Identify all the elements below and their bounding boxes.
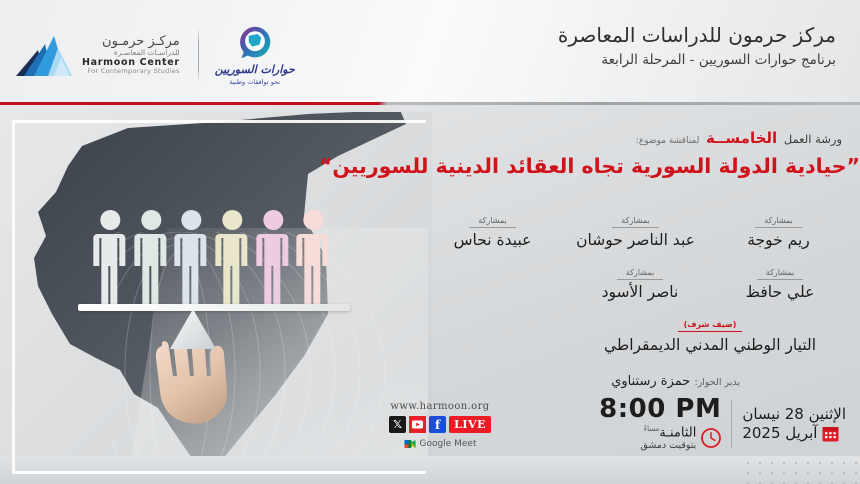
supporting-hand [148, 340, 240, 438]
triangle-fulcrum [168, 308, 218, 350]
person-figure [214, 208, 251, 308]
speaker-name: ناصر الأسود [576, 283, 704, 301]
person-figure [92, 208, 129, 308]
date-line-2: آبريل 2025 [742, 424, 817, 443]
clock-icon [701, 428, 721, 448]
workshop-headline: ”حيادية الدولة السورية تجاه العقائد الدي… [380, 154, 860, 178]
footer-bar [0, 456, 860, 484]
person-figure [295, 208, 332, 308]
time-detail-row: الثامنـةمساءً بتوقيت دمشق [599, 425, 721, 452]
harmoon-logo-text: مركـز حرمـون للدراسـات المعاصـرة Harmoon… [82, 35, 180, 74]
time-value: 8:00 PM [599, 396, 721, 422]
datetime-block: الإثنين 28 نيسان آبريل 2025 [599, 396, 846, 452]
moderator-name: حمزة رستناوي [611, 374, 690, 389]
hiwarat-subtitle: نحو توافقات وطنية [229, 78, 280, 86]
poster-header: مركـز حرمـون للدراسـات المعاصـرة Harmoon… [0, 0, 860, 104]
harmoon-ar-line1: مركـز حرمـون [82, 35, 180, 49]
time-box: 8:00 PM الثامنـةمساءً بتوقيت دمشق [599, 396, 721, 452]
datetime-separator [731, 400, 732, 448]
header-titles: مركز حرمون للدراسات المعاصرة برنامج حوار… [366, 22, 836, 68]
time-words-block: الثامنـةمساءً بتوقيت دمشق [640, 425, 696, 452]
speaker-name: عبيدة نحاس [427, 231, 558, 249]
harmoon-logo: مركـز حرمـون للدراسـات المعاصـرة Harmoon… [14, 32, 180, 78]
harmoon-ar-line2: للدراسـات المعاصـرة [82, 49, 180, 57]
date-line-1: الإثنين 28 نيسان [742, 405, 846, 424]
date-box: الإثنين 28 نيسان آبريل 2025 [742, 405, 846, 443]
social-badges: 𝕏 f LIVE [340, 416, 540, 433]
program-subtitle: برنامج حوارات السوريين - المرحلة الرابعة [366, 52, 836, 68]
moderator-label: يدير الحوار: [694, 377, 740, 388]
poster-root: مركـز حرمـون للدراسـات المعاصـرة Harmoon… [0, 0, 860, 484]
facebook-icon[interactable]: f [429, 416, 446, 433]
speaker-card: بمشاركة عبد الناصر حوشان [564, 208, 707, 249]
speaker-role: بمشاركة [755, 216, 801, 228]
hiwarat-title: حوارات السوريين [215, 63, 295, 76]
dot-pattern [742, 458, 860, 484]
youtube-icon[interactable] [409, 416, 426, 433]
calendar-icon [822, 425, 839, 442]
youtube-glyph [409, 416, 426, 433]
kicker-pre: ورشة العمل [784, 132, 842, 146]
timezone-label: بتوقيت دمشق [640, 441, 696, 452]
time-words-line: الثامنـةمساءً [640, 425, 696, 441]
speaker-card: بمشاركة عبيدة نحاس [421, 208, 564, 249]
kicker-post: لمناقشة موضوع: [636, 136, 700, 146]
website-url[interactable]: www.harmoon.org [340, 401, 540, 412]
date-line-2-row: آبريل 2025 [742, 424, 846, 443]
speaker-name: عبد الناصر حوشان [570, 231, 701, 249]
speech-bubble-syria-icon [237, 25, 273, 61]
speaker-role: بمشاركة [617, 268, 663, 280]
guest-name: التيار الوطني المدني الديمقراطي [570, 336, 850, 354]
person-figure [173, 208, 210, 308]
guest-role-label: (ضيف شرف) [678, 320, 743, 332]
google-meet-row[interactable]: Google Meet [340, 438, 540, 450]
speaker-card: بمشاركة ناصر الأسود [570, 260, 710, 301]
speakers-row-1: بمشاركة ريم خوجة بمشاركة عبد الناصر حوشا… [420, 208, 850, 249]
social-block: www.harmoon.org 𝕏 f LIVE Google Meet [340, 401, 540, 450]
google-meet-icon [404, 438, 416, 450]
time-words-main: الثامنـة [659, 425, 696, 440]
moderator-line: يدير الحوار: حمزة رستناوي [611, 374, 740, 389]
live-badge: LIVE [449, 416, 491, 433]
speaker-name: علي حافظ [716, 283, 844, 301]
people-figures-group [92, 208, 332, 308]
speakers-row-2: بمشاركة علي حافظ بمشاركة ناصر الأسود [570, 260, 850, 301]
header-rule [0, 102, 860, 105]
time-words-sup: مساءً [644, 425, 659, 433]
hiwarat-logo: حوارات السوريين نحو توافقات وطنية [215, 25, 295, 86]
kicker-ordinal: الخامســة [706, 129, 777, 147]
speaker-name: ريم خوجة [713, 231, 844, 249]
speaker-role: بمشاركة [469, 216, 515, 228]
guest-of-honor: (ضيف شرف) التيار الوطني المدني الديمقراط… [570, 312, 850, 354]
harmoon-en-line2: For Contemporary Studies [82, 68, 180, 75]
speaker-card: بمشاركة علي حافظ [710, 260, 850, 301]
x-icon[interactable]: 𝕏 [389, 416, 406, 433]
workshop-kicker: ورشة العمل الخامســة لمناقشة موضوع: [636, 129, 842, 147]
logo-zone: مركـز حرمـون للدراسـات المعاصـرة Harmoon… [14, 20, 344, 90]
person-figure [133, 208, 170, 308]
harmoon-mountain-icon [14, 32, 76, 78]
speaker-role: بمشاركة [612, 216, 658, 228]
google-meet-label: Google Meet [420, 439, 477, 449]
org-title: مركز حرمون للدراسات المعاصرة [366, 22, 836, 49]
logo-divider [198, 28, 199, 82]
speaker-card: بمشاركة ريم خوجة [707, 208, 850, 249]
person-figure [255, 208, 292, 308]
speaker-role: بمشاركة [757, 268, 803, 280]
